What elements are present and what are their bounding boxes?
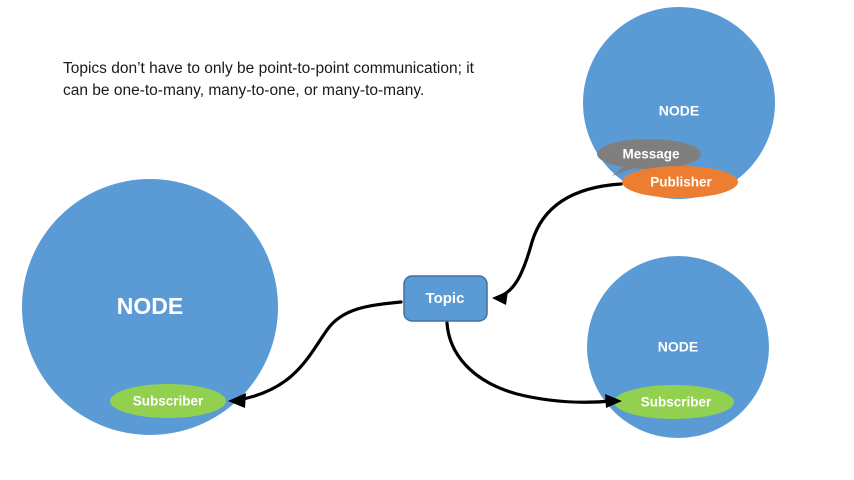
node-bottom-right[interactable]: NODE Subscriber <box>587 256 769 438</box>
publisher-label: Publisher <box>650 175 712 190</box>
topic-label: Topic <box>426 290 465 307</box>
publisher[interactable]: Publisher <box>622 166 738 198</box>
topic-box[interactable]: Topic <box>404 276 487 321</box>
subscriber-left-label: Subscriber <box>133 394 204 409</box>
connection-topic-to-subscriber-right-path <box>447 323 612 402</box>
subscriber-left[interactable]: Subscriber <box>110 384 226 418</box>
node-top-right-label: NODE <box>659 103 699 119</box>
message-label: Message <box>622 147 680 162</box>
connection-publisher-to-topic <box>492 184 621 305</box>
connection-publisher-to-topic-path <box>496 184 621 298</box>
subscriber-right[interactable]: Subscriber <box>614 385 734 419</box>
arrowhead-topic <box>492 291 508 305</box>
node-left-label: NODE <box>117 293 183 319</box>
slide-canvas: Topics don’t have to only be point-to-po… <box>0 0 854 480</box>
node-bottom-right-label: NODE <box>658 339 698 355</box>
node-top-right[interactable]: NODE Message Publisher <box>583 7 775 199</box>
subscriber-right-label: Subscriber <box>641 395 712 410</box>
pubsub-diagram: NODE Subscriber NODE Message Publisher <box>0 0 854 480</box>
